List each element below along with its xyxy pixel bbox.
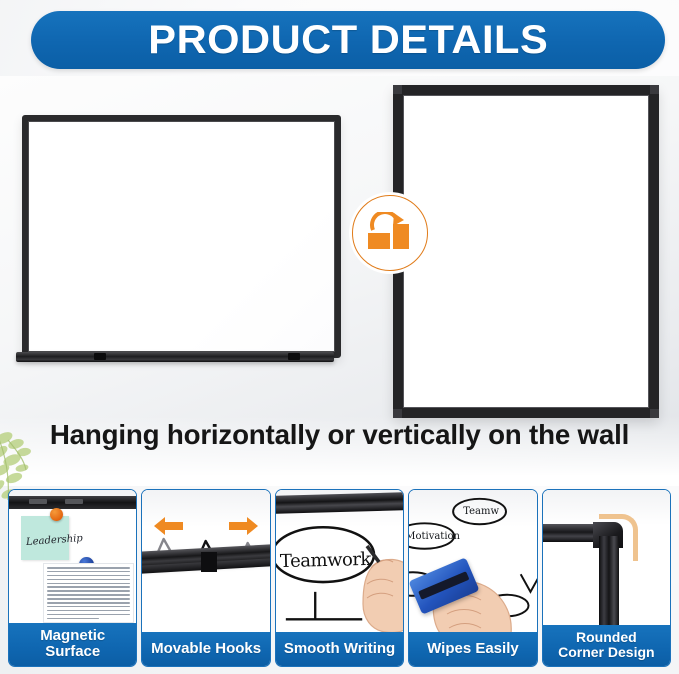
feature-image-magnetic-surface: Leadership [9, 490, 136, 623]
feature-caption-movable-hooks: Movable Hooks [142, 632, 269, 666]
tray-clip-right-icon [288, 353, 300, 360]
feature-panel-magnetic-surface[interactable]: Leadership Magnetic Surface [8, 489, 137, 667]
tray-clip-left-icon [94, 353, 106, 360]
hand-writing-icon [349, 538, 403, 632]
header-banner: PRODUCT DETAILS [31, 11, 665, 69]
hero-tagline: Hanging horizontally or vertically on th… [3, 418, 675, 452]
rail-clip-right-icon [65, 499, 83, 504]
frame-corner-top-left-icon [393, 85, 402, 94]
product-detail-page: PRODUCT DETAILS [0, 0, 679, 674]
feature-panel-smooth-writing[interactable]: Teamwork Smooth Writing [275, 489, 404, 667]
vertical-whiteboard-inner-edge [403, 95, 649, 408]
feature-image-movable-hooks [142, 490, 269, 632]
feature-caption-smooth-writing: Smooth Writing [276, 632, 403, 666]
rail-clip-left-icon [29, 499, 47, 504]
feature-image-rounded-corner [543, 490, 670, 625]
magnet-orange-icon [50, 508, 63, 521]
board-word-teamwork: Teamw [463, 506, 499, 517]
sticky-note: Leadership [21, 516, 69, 560]
feature-panel-rounded-corner[interactable]: Rounded Corner Design [542, 489, 671, 667]
feature-caption-line-2: Corner Design [558, 645, 654, 660]
rotate-orientation-icon [352, 195, 428, 271]
vertical-whiteboard [393, 85, 659, 418]
frame-vertical-rail [599, 536, 619, 625]
arrow-right-icon [228, 516, 258, 536]
document-paper [43, 563, 134, 623]
horizontal-whiteboard-inner-edge [28, 121, 335, 352]
eraser-felt [418, 571, 469, 600]
feature-caption-magnetic-surface: Magnetic Surface [9, 623, 136, 666]
hook-center-bracket-icon [198, 552, 220, 574]
feature-panel-row: Leadership Magnetic Surface [8, 489, 671, 667]
feature-caption-rounded-corner: Rounded Corner Design [543, 625, 670, 666]
frame-corner-bottom-right-icon [650, 409, 659, 418]
feature-image-smooth-writing: Teamwork [276, 490, 403, 632]
feature-image-wipes-easily: Teamw Motivation [409, 490, 536, 632]
feature-panel-movable-hooks[interactable]: Movable Hooks [141, 489, 270, 667]
feature-panel-wipes-easily[interactable]: Teamw Motivation Wipes Easily [408, 489, 537, 667]
horizontal-whiteboard [22, 115, 341, 358]
board-top-rail [9, 496, 136, 509]
board-word-motivation: Motivation [409, 531, 460, 542]
arrow-left-icon [154, 516, 184, 536]
rounded-corner-icon [543, 490, 670, 625]
feature-caption-wipes-easily: Wipes Easily [409, 632, 536, 666]
page-title: PRODUCT DETAILS [148, 20, 548, 60]
horizontal-whiteboard-pen-tray [16, 352, 334, 362]
frame-corner-bottom-left-icon [393, 409, 402, 418]
feature-caption-line-1: Rounded [558, 630, 654, 645]
frame-corner-top-right-icon [650, 85, 659, 94]
